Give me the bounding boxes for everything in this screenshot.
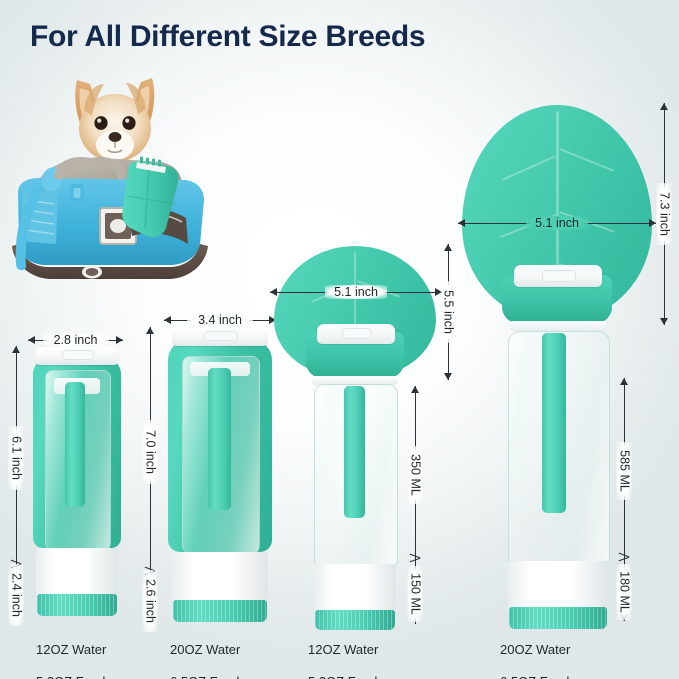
bottle-4-caption-line2: 6.5OZ Food: [500, 674, 570, 679]
bottle-1-base-cap: [37, 594, 117, 616]
bottle-1-dim-width-label: 2.8 inch: [50, 334, 102, 347]
bottle-1-caption: 12OZ Water 5.2OZ Food: [36, 626, 106, 679]
bottle-1-cap-tab: [62, 350, 94, 360]
bottle-2-caption: 20OZ Water 6.5OZ Food: [170, 626, 240, 679]
bottle-1-dim-height-label: 6.1 inch: [10, 432, 23, 484]
bottle-4-dim-leaf-width: 5.1 inch: [458, 215, 656, 231]
bottle-3-dim-food: 150 ML: [407, 564, 423, 624]
bottle-2-base-cap: [173, 600, 267, 622]
bottle-3-dim-water-label: 350 ML: [409, 450, 422, 500]
bottle-1-dim-height: 6.1 inch: [8, 346, 24, 570]
bottle-1: 2.8 inch 6.1 inch 2.4 inch 12OZ Water 5.…: [0, 330, 150, 620]
bottle-1-caption-line1: 12OZ Water: [36, 642, 106, 658]
bottle-3-dim-leaf-width-label: 5.1 inch: [330, 286, 382, 299]
pet-carrier-bag: [12, 157, 208, 279]
bottle-4-strap: [542, 333, 566, 513]
bottle-3-strap: [344, 386, 365, 518]
bottle-4-food-container: [508, 561, 608, 611]
infographic-canvas: For All Different Size Breeds: [0, 0, 679, 679]
bottle-4-dim-food: 180 ML: [616, 563, 632, 621]
bottle-4-dim-food-label: 180 ML: [618, 567, 631, 617]
bottle-2-dim-food-height-label: 2.6 inch: [144, 575, 157, 627]
bottle-2-food-container: [172, 552, 268, 602]
bottle-2-dim-food-height: 2.6 inch: [142, 577, 158, 625]
bottle-4-caption-line1: 20OZ Water: [500, 642, 570, 658]
bottle-2-caption-line1: 20OZ Water: [170, 642, 240, 658]
bottle-4-cap-tab: [542, 270, 576, 282]
bottle-4: 5.1 inch 7.3 inch 585 ML 180 ML 20OZ Wat…: [440, 95, 679, 620]
bottle-3-dim-water: 350 ML: [407, 386, 423, 564]
bottle-4-caption: 20OZ Water 6.5OZ Food: [500, 626, 570, 679]
bottle-2-strap: [208, 368, 231, 510]
bottle-3-caption-line1: 12OZ Water: [308, 642, 378, 658]
bottle-2-dim-height: 7.0 inch: [142, 327, 158, 577]
bottle-4-neck-ring: [510, 321, 606, 331]
dog-in-carrier-photo: [0, 58, 222, 308]
bottle-3-dim-food-label: 150 ML: [409, 569, 422, 619]
bottle-1-dim-food-height-label: 2.4 inch: [10, 569, 23, 621]
bottle-1-food-container: [36, 548, 118, 596]
bottle-4-dim-water: 585 ML: [616, 378, 632, 563]
bottle-4-dim-leaf-height-label: 7.3 inch: [658, 188, 671, 240]
bottle-2-dim-width: 3.4 inch: [164, 312, 276, 328]
bottle-3: 5.1 inch 5.5 inch 350 ML 150 ML 12OZ Wat…: [262, 240, 462, 620]
bottle-2-dim-height-label: 7.0 inch: [144, 426, 157, 478]
bottle-1-dim-food-height: 2.4 inch: [8, 570, 24, 620]
bottle-4-dim-leaf-height: 7.3 inch: [656, 103, 672, 325]
bottle-1-strap: [65, 382, 85, 507]
bottle-3-caption: 12OZ Water 5.2OZ Food: [308, 626, 378, 679]
bottle-3-caption-line2: 5.2OZ Food: [308, 674, 378, 679]
bottle-2-dim-width-label: 3.4 inch: [194, 314, 246, 327]
bottle-3-cap-tab: [342, 328, 372, 339]
bottle-3-dim-leaf-width: 5.1 inch: [270, 284, 442, 300]
page-title: For All Different Size Breeds: [30, 20, 425, 54]
bottle-4-dim-water-label: 585 ML: [618, 446, 631, 496]
bottle-4-dim-leaf-width-label: 5.1 inch: [531, 217, 583, 230]
bottle-1-dim-width: 2.8 inch: [28, 332, 123, 348]
bottle-2-caption-line2: 6.5OZ Food: [170, 674, 240, 679]
bottle-1-caption-line2: 5.2OZ Food: [36, 674, 106, 679]
bottle-2-cap-tab: [204, 331, 238, 341]
bottle-3-food-container: [314, 564, 396, 614]
